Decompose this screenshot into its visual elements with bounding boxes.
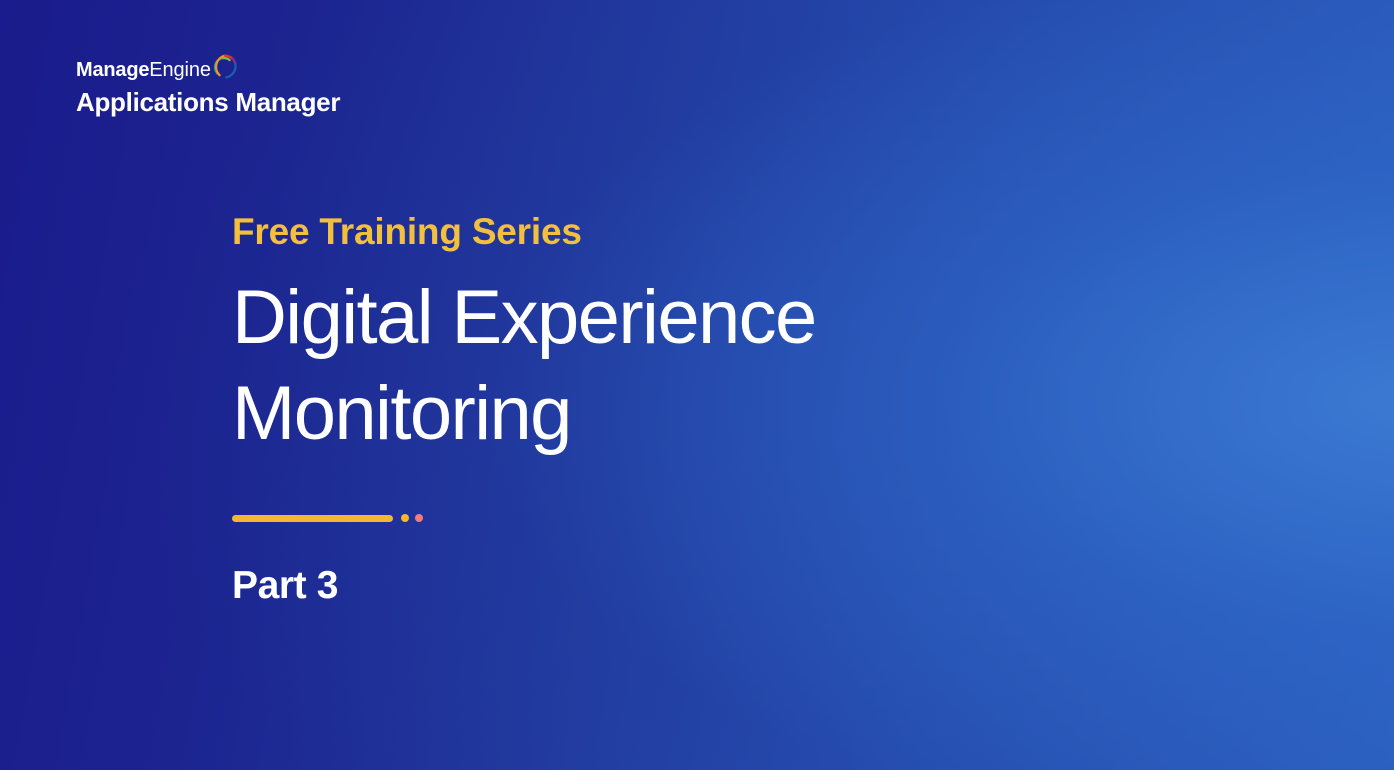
product-title: Applications Manager	[76, 88, 496, 117]
headline-line-2: Monitoring	[232, 371, 571, 456]
wordmark-engine: Engine	[149, 60, 211, 80]
divider-dot-pink	[415, 514, 423, 522]
manageengine-wordmark: Manage Engine	[76, 58, 496, 82]
divider-dot-gold	[401, 514, 409, 522]
decorative-divider	[232, 513, 1132, 523]
slide-content: Free Training Series Digital Experience …	[232, 213, 1132, 605]
headline-line-1: Digital Experience	[232, 275, 816, 360]
part-label: Part 3	[232, 566, 1132, 605]
wordmark-manage: Manage	[76, 60, 149, 80]
series-eyebrow: Free Training Series	[232, 213, 1132, 252]
brand-logo: Manage Engine Applications Manager	[76, 58, 496, 117]
manageengine-swoosh-icon	[212, 54, 238, 80]
title-slide: Manage Engine Applications Manager Free …	[0, 0, 1394, 770]
divider-bar	[232, 515, 393, 522]
slide-headline: Digital Experience Monitoring	[232, 270, 932, 462]
